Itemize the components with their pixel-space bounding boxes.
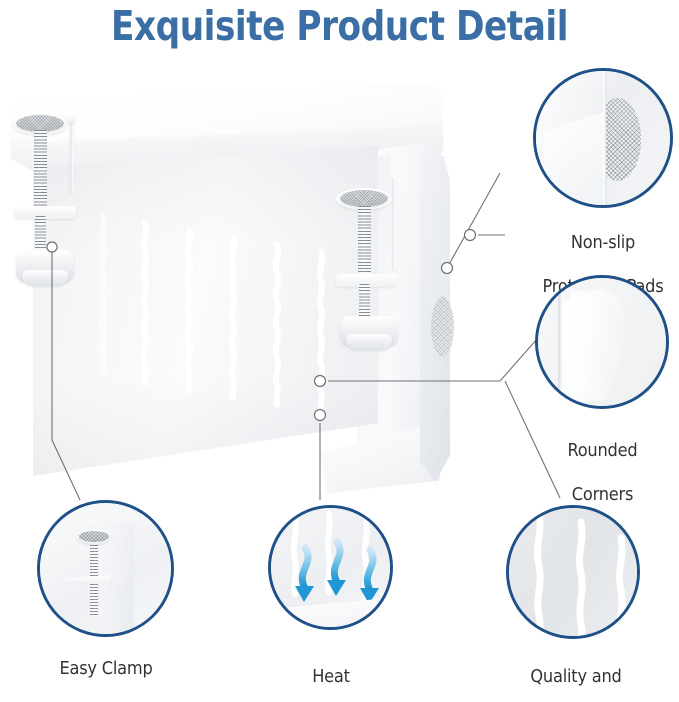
callout-quality-circle [506, 505, 640, 639]
vent-slot [226, 236, 239, 401]
vent-slot [138, 221, 151, 386]
scene-non-slip [536, 71, 670, 205]
clamp-left-screw-upper [34, 130, 47, 208]
vent-slot [96, 214, 109, 374]
callout-non-slip-circle [533, 68, 673, 208]
callout-rounded-circle [535, 275, 669, 409]
scene-heat-dissipation [271, 508, 390, 627]
callout-easy-clamp-label: Easy Clamp Without Drilling [15, 636, 197, 702]
clamp-right-screw-upper [358, 206, 371, 278]
callout-heat-label: Heat Dissipation [248, 644, 414, 702]
clamp-right-vertical-bar [392, 178, 396, 270]
clamp-right-knob-mesh [340, 190, 388, 207]
callout-non-slip-label-line1: Non-slip [513, 232, 679, 254]
scene-easy-clamp [40, 503, 171, 634]
clamp-left-vertical-bar [70, 118, 74, 193]
vent-slot [314, 250, 327, 415]
clamp-left-wingnut-base [22, 270, 68, 286]
vent-slot [270, 243, 283, 408]
scene-rounded-corners [538, 278, 666, 406]
clamp-right-wingnut-base [346, 334, 392, 350]
callout-heat-circle [268, 505, 393, 630]
scene-quality-material [509, 508, 637, 636]
callout-easy-clamp-circle [37, 500, 174, 637]
product-illustration [0, 58, 500, 498]
callout-quality-label: Quality and Durable Material [478, 644, 674, 702]
page-title: Exquisite Product Detail [24, 0, 655, 54]
callout-quality-label-line1: Quality and [478, 666, 674, 688]
callout-rounded-label-line1: Rounded [515, 440, 679, 462]
callout-rounded-label-line2: Corners [515, 484, 679, 506]
vent-slot [182, 229, 195, 394]
callout-easy-clamp-label-line1: Easy Clamp [15, 658, 197, 680]
infographic-canvas: Exquisite Product Detail [0, 0, 679, 702]
callout-heat-label-line1: Heat [248, 666, 414, 688]
